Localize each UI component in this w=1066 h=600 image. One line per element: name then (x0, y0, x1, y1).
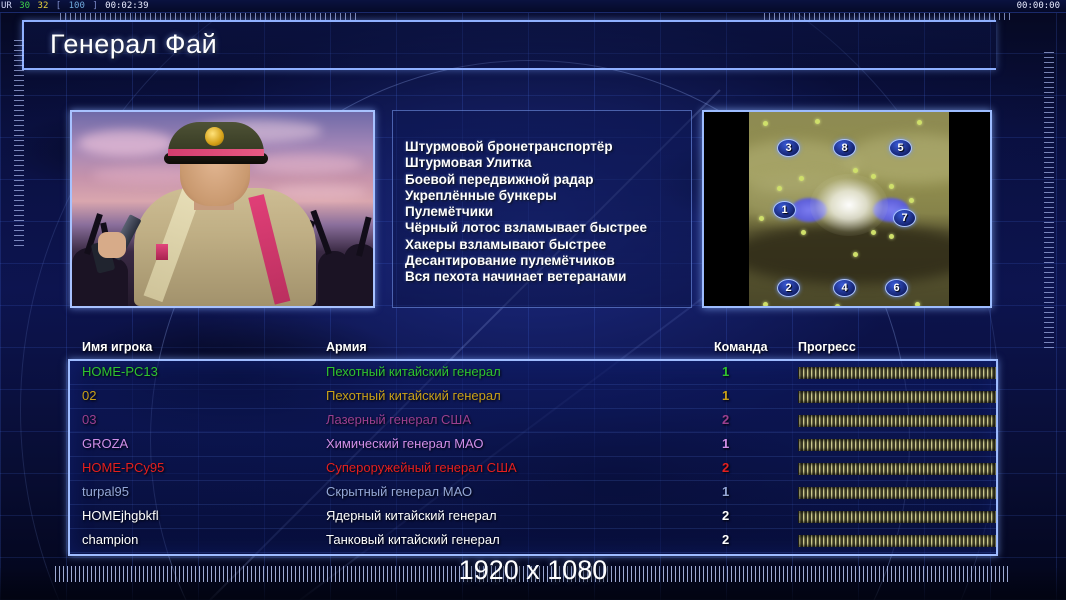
player-team: 1 (722, 484, 729, 499)
player-army: Ядерный китайский генерал (326, 508, 497, 523)
progress-fill (798, 415, 996, 427)
status-bracket-close: ] (91, 1, 98, 11)
table-row[interactable]: GROZAХимический генерал МАО1 (70, 433, 996, 457)
ability-item: Пулемётчики (405, 204, 691, 220)
status-prefix: UR (0, 1, 13, 11)
player-army: Лазерный генерал США (326, 412, 471, 427)
minimap-terrain: 3 8 5 1 7 2 4 6 (749, 112, 949, 306)
progress-fill (798, 463, 996, 475)
ability-item: Вся пехота начинает ветеранами (405, 269, 691, 285)
player-name: HOME-PC13 (82, 364, 158, 379)
player-table-header: Имя игрока Армия Команда Прогресс (70, 340, 995, 357)
table-row[interactable]: turpal95Скрытный генерал МАО1 (70, 481, 996, 505)
player-progress-bar (798, 415, 996, 427)
ability-item: Боевой передвижной радар (405, 172, 691, 188)
progress-fill (798, 487, 996, 499)
player-army: Пехотный китайский генерал (326, 388, 501, 403)
minimap-center-glow (810, 174, 888, 236)
player-name: 03 (82, 412, 96, 427)
player-team: 1 (722, 436, 729, 451)
general-info-panel: Штурмовой бронетранспортёр Штурмовая Ули… (70, 110, 995, 322)
player-progress-bar (798, 439, 996, 451)
progress-fill (798, 511, 996, 523)
ability-item: Хакеры взламывают быстрее (405, 237, 691, 253)
table-row[interactable]: HOME-PCy95Супероружейный генерал США2 (70, 457, 996, 481)
player-army: Скрытный генерал МАО (326, 484, 472, 499)
top-status-strip: UR 30 32 [ 100 ] 00:02:39 00:00:00 (0, 0, 1066, 13)
status-timer: 00:02:39 (104, 1, 149, 11)
minimap-start-4[interactable]: 4 (833, 279, 856, 297)
table-row[interactable]: 03Лазерный генерал США2 (70, 409, 996, 433)
player-name: GROZA (82, 436, 128, 451)
general-portrait (70, 110, 375, 308)
player-army: Танковый китайский генерал (326, 532, 500, 547)
ruler-left (14, 36, 24, 246)
ability-item: Укреплённые бункеры (405, 188, 691, 204)
minimap-start-6[interactable]: 6 (885, 279, 908, 297)
general-hand (98, 232, 126, 258)
minimap-start-2[interactable]: 2 (777, 279, 800, 297)
column-header-army: Армия (326, 340, 367, 354)
player-table: HOME-PC13Пехотный китайский генерал102Пе… (68, 359, 998, 556)
progress-fill (798, 439, 996, 451)
player-name: HOMEjhgbkfl (82, 508, 159, 523)
portrait-image (72, 112, 373, 306)
player-army: Пехотный китайский генерал (326, 364, 501, 379)
progress-fill (798, 391, 996, 403)
player-progress-bar (798, 463, 996, 475)
progress-fill (798, 367, 996, 379)
table-row[interactable]: HOME-PC13Пехотный китайский генерал1 (70, 361, 996, 385)
ability-item: Чёрный лотос взламывает быстрее (405, 220, 691, 236)
player-team: 1 (722, 364, 729, 379)
ability-item: Штурмовая Улитка (405, 155, 691, 171)
status-ping: 100 (68, 1, 86, 11)
minimap-start-7[interactable]: 7 (893, 209, 916, 227)
player-team: 2 (722, 412, 729, 427)
abilities-list: Штурмовой бронетранспортёр Штурмовая Ули… (392, 110, 692, 308)
ruler-right (1044, 48, 1054, 348)
table-row[interactable]: 02Пехотный китайский генерал1 (70, 385, 996, 409)
player-team: 1 (722, 388, 729, 403)
status-value-2: 32 (37, 1, 50, 11)
player-team: 2 (722, 508, 729, 523)
player-name: HOME-PCy95 (82, 460, 164, 475)
status-value-1: 30 (18, 1, 31, 11)
column-header-progress: Прогресс (798, 340, 856, 354)
progress-fill (798, 535, 996, 547)
player-name: champion (82, 532, 138, 547)
player-name: turpal95 (82, 484, 129, 499)
resolution-label: 1920 x 1080 (0, 555, 1066, 586)
player-name: 02 (82, 388, 96, 403)
player-progress-bar (798, 511, 996, 523)
player-army: Химический генерал МАО (326, 436, 484, 451)
player-team: 2 (722, 532, 729, 547)
ability-item: Десантирование пулемётчиков (405, 253, 691, 269)
player-progress-bar (798, 487, 996, 499)
status-clock-right: 00:00:00 (1017, 0, 1060, 13)
general-medal (156, 244, 168, 260)
column-header-name: Имя игрока (82, 340, 152, 354)
table-row[interactable]: championТанковый китайский генерал2 (70, 529, 996, 553)
general-cap-band (168, 149, 264, 156)
general-cap-emblem (205, 127, 224, 146)
ability-item: Штурмовой бронетранспортёр (405, 139, 691, 155)
player-progress-bar (798, 391, 996, 403)
column-header-team: Команда (714, 340, 768, 354)
player-progress-bar (798, 535, 996, 547)
player-progress-bar (798, 367, 996, 379)
status-bracket-open: [ (55, 1, 62, 11)
player-team: 2 (722, 460, 729, 475)
table-row[interactable]: HOMEjhgbkflЯдерный китайский генерал2 (70, 505, 996, 529)
minimap-preview[interactable]: 3 8 5 1 7 2 4 6 (702, 110, 992, 308)
player-army: Супероружейный генерал США (326, 460, 517, 475)
